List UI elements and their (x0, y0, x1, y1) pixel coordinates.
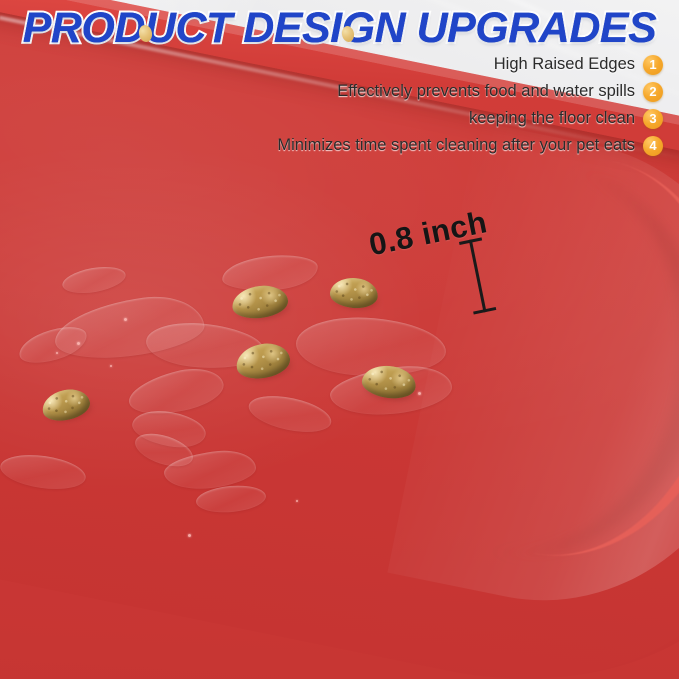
dimension-stem (469, 239, 487, 312)
product-marketing-image: 0.8 inch PRODUCT DESIGN UPGRADES PRODUCT… (0, 0, 679, 679)
pet-feeding-tray (0, 0, 679, 679)
